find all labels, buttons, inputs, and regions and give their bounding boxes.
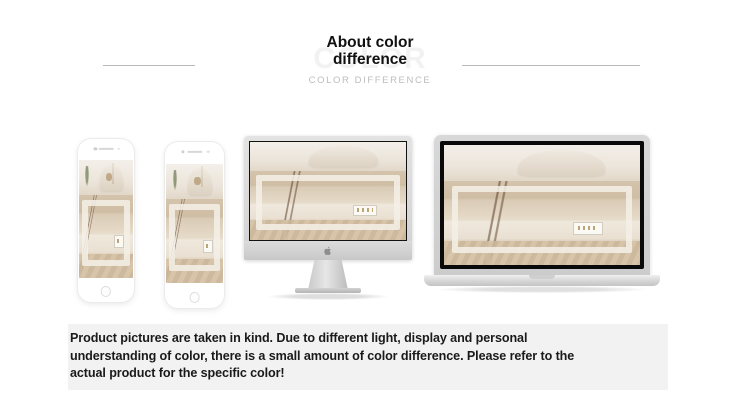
desktop-monitor <box>244 136 412 300</box>
proximity-sensor-icon <box>207 150 210 153</box>
color-difference-banner: COLOR About color difference COLOR DIFFE… <box>0 0 750 413</box>
laptop-drop-shadow <box>437 286 647 293</box>
product-photo-imac <box>250 142 406 240</box>
cushion <box>194 177 201 185</box>
laptop-screen <box>444 145 640 265</box>
page-subtitle: COLOR DIFFERENCE <box>255 75 485 86</box>
smartphone-left <box>78 139 134 302</box>
laptop-bezel <box>440 141 644 269</box>
laptop-lid <box>434 135 650 277</box>
page-title-line2: difference <box>333 51 407 68</box>
device-showcase-row <box>0 125 750 310</box>
product-photo-phone-right <box>166 164 222 284</box>
plant-decor <box>85 166 89 187</box>
imac-drop-shadow <box>268 293 388 300</box>
page-title: About color difference <box>314 34 426 68</box>
imac-stand-neck <box>308 260 348 290</box>
page-title-line1: About color <box>327 34 414 51</box>
product-photo-laptop <box>444 145 640 265</box>
front-camera-icon <box>94 147 97 150</box>
smartphone-right <box>165 142 224 308</box>
divider-line-left <box>103 65 195 66</box>
floor-lamp <box>112 163 114 184</box>
laptop-lid-notch <box>529 275 555 279</box>
phone-top-bezel <box>165 142 224 164</box>
disclaimer-line-3: actual product for the specific color! <box>70 365 670 383</box>
floor-lamp <box>201 166 203 188</box>
phone-screen-right <box>166 164 222 284</box>
disclaimer-text: Product pictures are taken in kind. Due … <box>70 330 670 383</box>
imac-chin <box>244 241 412 260</box>
disclaimer-line-1: Product pictures are taken in kind. Due … <box>70 330 670 348</box>
phone-screen-left <box>79 160 132 277</box>
plant-decor <box>173 170 177 192</box>
imac-screen <box>249 141 407 241</box>
laptop <box>424 135 660 300</box>
rug-label-card <box>353 205 377 216</box>
apple-logo-icon <box>324 246 333 256</box>
home-button[interactable] <box>101 286 111 296</box>
rug-label-card <box>203 240 213 253</box>
rug-border <box>256 175 400 230</box>
divider-line-right <box>462 65 640 66</box>
earpiece-speaker-icon <box>187 151 202 153</box>
rug-border <box>452 186 632 253</box>
proximity-sensor-icon <box>118 147 121 150</box>
rug-label-card <box>114 235 123 248</box>
header-section: COLOR About color difference COLOR DIFFE… <box>0 0 750 120</box>
imac-body <box>244 136 412 260</box>
title-block: COLOR About color difference COLOR DIFFE… <box>255 34 485 86</box>
product-photo-phone-left <box>79 160 132 277</box>
disclaimer-line-2: understanding of color, there is a small… <box>70 348 670 366</box>
front-camera-icon <box>182 150 185 153</box>
earpiece-speaker-icon <box>99 147 114 149</box>
rug-label-card <box>573 222 602 235</box>
phone-top-bezel <box>78 139 134 160</box>
rug-border <box>82 200 131 266</box>
rug-border <box>169 204 221 271</box>
home-button[interactable] <box>189 292 200 303</box>
